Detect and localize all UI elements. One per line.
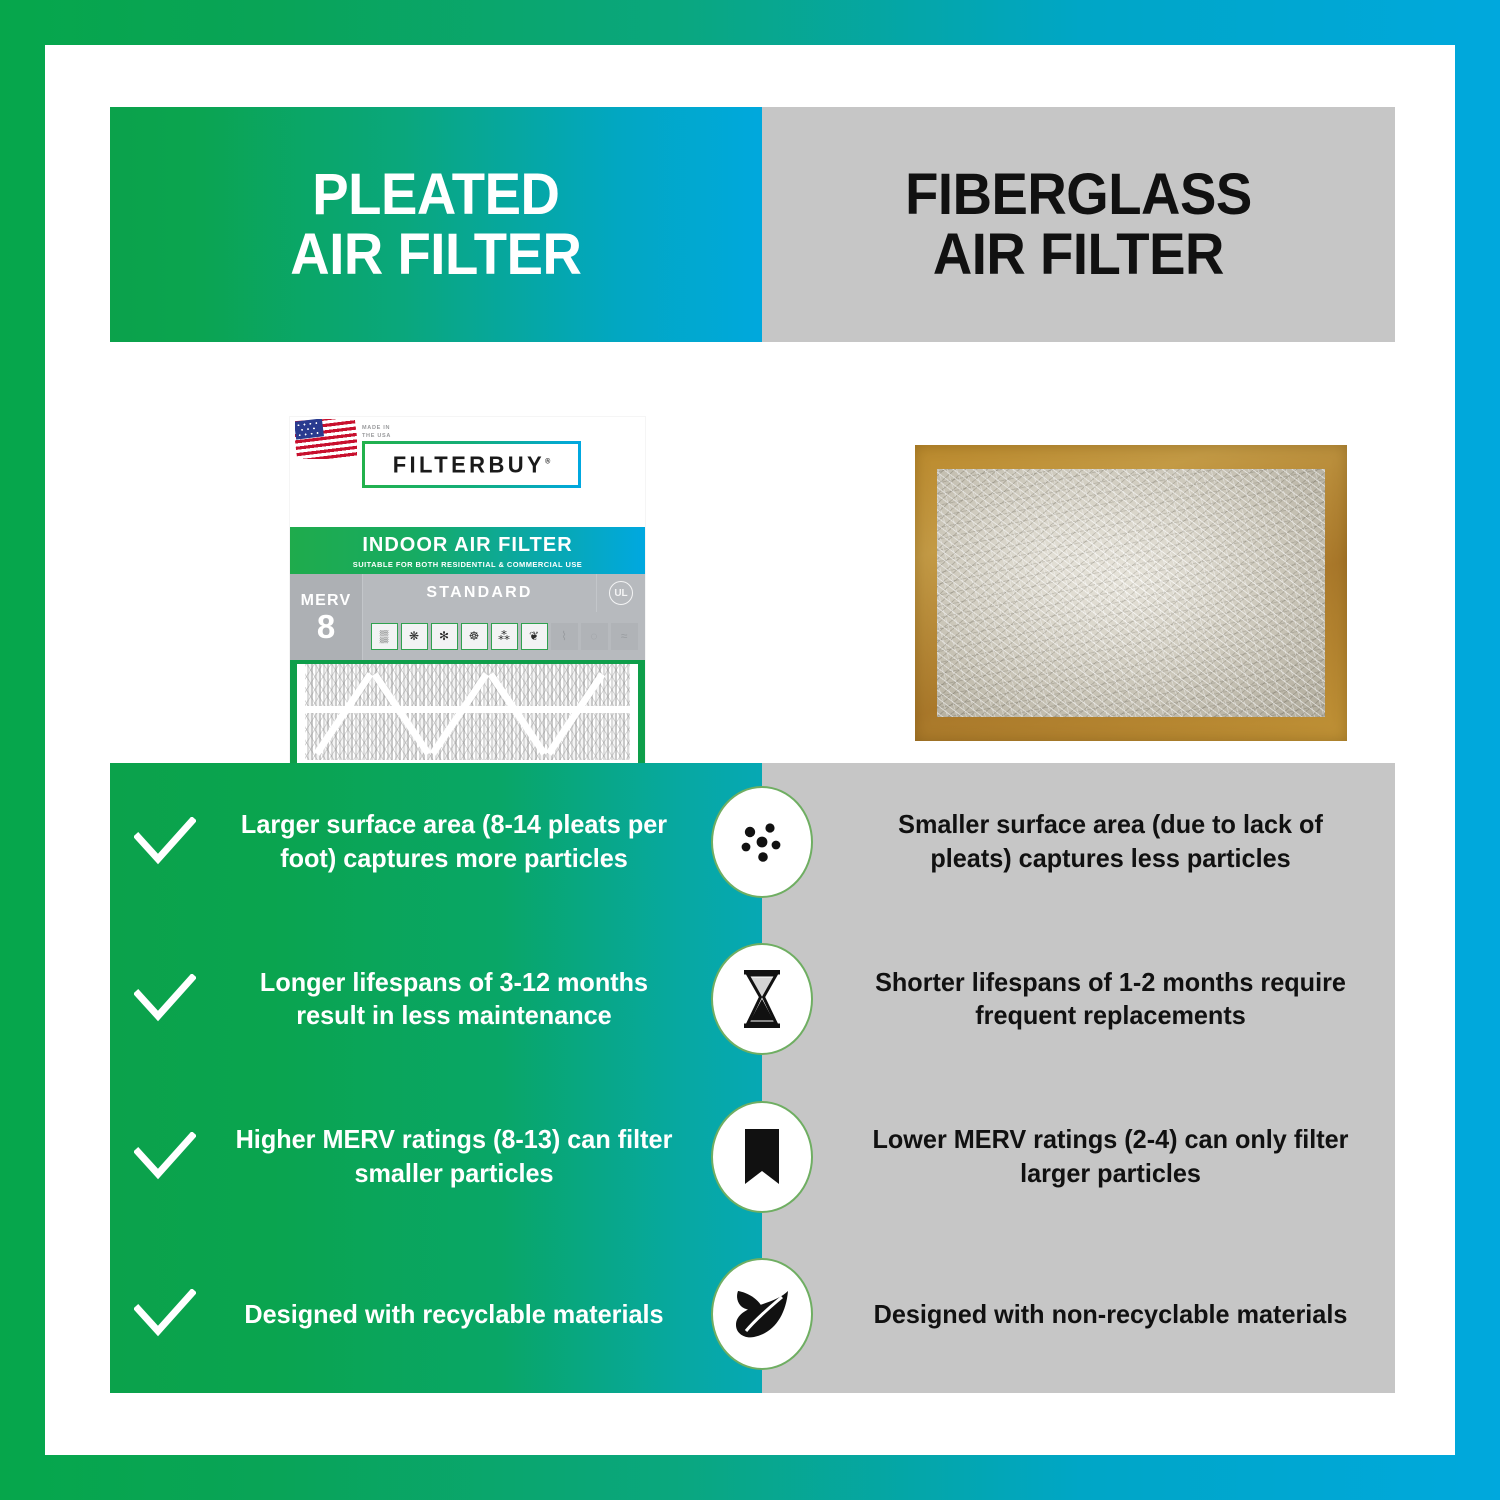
box-spec-strip: MERV 8 STANDARD UL ▒ ❋ ✻ [290, 574, 645, 660]
capability-icon-strip: ▒ ❋ ✻ ☸ ⁂ ❦ ⌇ ◌ ≈ [362, 612, 645, 660]
dust-mites-pollen-icon: ❋ [401, 623, 428, 650]
box-header: MADE IN THE USA FILTERBUY® [290, 417, 645, 527]
comparison-pleated-text: Longer lifespans of 3-12 months result i… [227, 966, 681, 1033]
comparison-fiberglass-text: Smaller surface area (due to lack of ple… [858, 808, 1363, 875]
box-grade-block: STANDARD UL ▒ ❋ ✻ ☸ ⁂ ❦ ⌇ [362, 574, 645, 660]
header-pleated-title: PLEATED AIR FILTER [290, 165, 581, 283]
merv-label: MERV [301, 592, 352, 610]
leaf-icon [711, 1258, 813, 1370]
checkmark-icon [110, 1289, 220, 1339]
comparison-row-pleated: Longer lifespans of 3-12 months result i… [110, 921, 762, 1079]
bacteria-icon: ⁂ [491, 623, 518, 650]
comparison-row: Higher MERV ratings (8-13) can filter sm… [110, 1078, 1395, 1236]
box-banner: INDOOR AIR FILTER SUITABLE FOR BOTH RESI… [290, 527, 645, 574]
trademark-symbol: ® [545, 458, 550, 465]
odors-icon: ◌ [581, 623, 608, 650]
mold-icon: ☸ [461, 623, 488, 650]
comparison-pleated-text: Higher MERV ratings (8-13) can filter sm… [227, 1123, 681, 1190]
comparison-row-pleated: Designed with recyclable materials [110, 1236, 762, 1394]
filterbuy-logo: FILTERBUY® [362, 441, 581, 488]
pollen-icon: ✻ [431, 623, 458, 650]
lint-dust-icon: ▒ [371, 623, 398, 650]
comparison-row: Larger surface area (8-14 pleats per foo… [110, 763, 1395, 921]
box-banner-subtitle: SUITABLE FOR BOTH RESIDENTIAL & COMMERCI… [353, 560, 582, 569]
infographic-canvas: PLEATED AIR FILTER FIBERGLASS AIR FILTER… [45, 45, 1455, 1455]
ul-certification-badge: UL [596, 574, 645, 612]
checkmark-icon [110, 1132, 220, 1182]
box-banner-title: INDOOR AIR FILTER [362, 534, 572, 557]
pet-dander-icon: ❦ [521, 623, 548, 650]
comparison-rows: Larger surface area (8-14 pleats per foo… [110, 763, 1395, 1393]
filterbuy-logo-text: FILTERBUY [393, 451, 545, 477]
comparison-row: Longer lifespans of 3-12 months result i… [110, 921, 1395, 1079]
merv-rating-block: MERV 8 [290, 574, 362, 660]
comparison-fiberglass-text: Shorter lifespans of 1-2 months require … [858, 966, 1363, 1033]
comparison-row-fiberglass: Smaller surface area (due to lack of ple… [762, 763, 1395, 921]
smoke-icon: ⌇ [551, 623, 578, 650]
fiberglass-mesh [937, 469, 1325, 717]
box-grade-row: STANDARD UL [362, 574, 645, 612]
comparison-row-fiberglass: Shorter lifespans of 1-2 months require … [762, 921, 1395, 1079]
pleat-texture [297, 664, 638, 768]
comparison-pleated-text: Designed with recyclable materials [227, 1298, 681, 1331]
checkmark-icon [110, 974, 220, 1024]
hourglass-icon [711, 943, 813, 1055]
comparison-row: Designed with recyclable materials Desig… [110, 1236, 1395, 1394]
fiberglass-filter-image [915, 445, 1347, 741]
comparison-fiberglass-text: Designed with non-recyclable materials [858, 1298, 1363, 1331]
comparison-section: Larger surface area (8-14 pleats per foo… [110, 763, 1395, 1393]
comparison-fiberglass-text: Lower MERV ratings (2-4) can only filter… [858, 1123, 1363, 1190]
header-fiberglass-panel: FIBERGLASS AIR FILTER [762, 107, 1395, 342]
comparison-row-pleated: Higher MERV ratings (8-13) can filter sm… [110, 1078, 762, 1236]
header-band: PLEATED AIR FILTER FIBERGLASS AIR FILTER [110, 107, 1395, 342]
comparison-row-pleated: Larger surface area (8-14 pleats per foo… [110, 763, 762, 921]
comparison-row-fiberglass: Lower MERV ratings (2-4) can only filter… [762, 1078, 1395, 1236]
comparison-pleated-text: Larger surface area (8-14 pleats per foo… [227, 808, 681, 875]
bookmark-icon [711, 1101, 813, 1213]
made-in-usa-label: MADE IN THE USA [362, 424, 391, 441]
header-pleated-panel: PLEATED AIR FILTER [110, 107, 762, 342]
us-flag-icon [295, 419, 357, 459]
infographic-root: PLEATED AIR FILTER FIBERGLASS AIR FILTER… [0, 0, 1500, 1500]
merv-value: 8 [317, 610, 335, 643]
filter-grade-label: STANDARD [363, 584, 596, 602]
virus-icon: ≈ [611, 623, 638, 650]
ul-mark-icon: UL [609, 581, 633, 605]
product-image-row: MADE IN THE USA FILTERBUY® INDOOR AIR FI… [110, 342, 1395, 782]
pleated-filter-box-image: MADE IN THE USA FILTERBUY® INDOOR AIR FI… [290, 417, 645, 787]
particles-icon [711, 786, 813, 898]
comparison-row-fiberglass: Designed with non-recyclable materials [762, 1236, 1395, 1394]
checkmark-icon [110, 817, 220, 867]
header-fiberglass-title: FIBERGLASS AIR FILTER [905, 165, 1252, 283]
